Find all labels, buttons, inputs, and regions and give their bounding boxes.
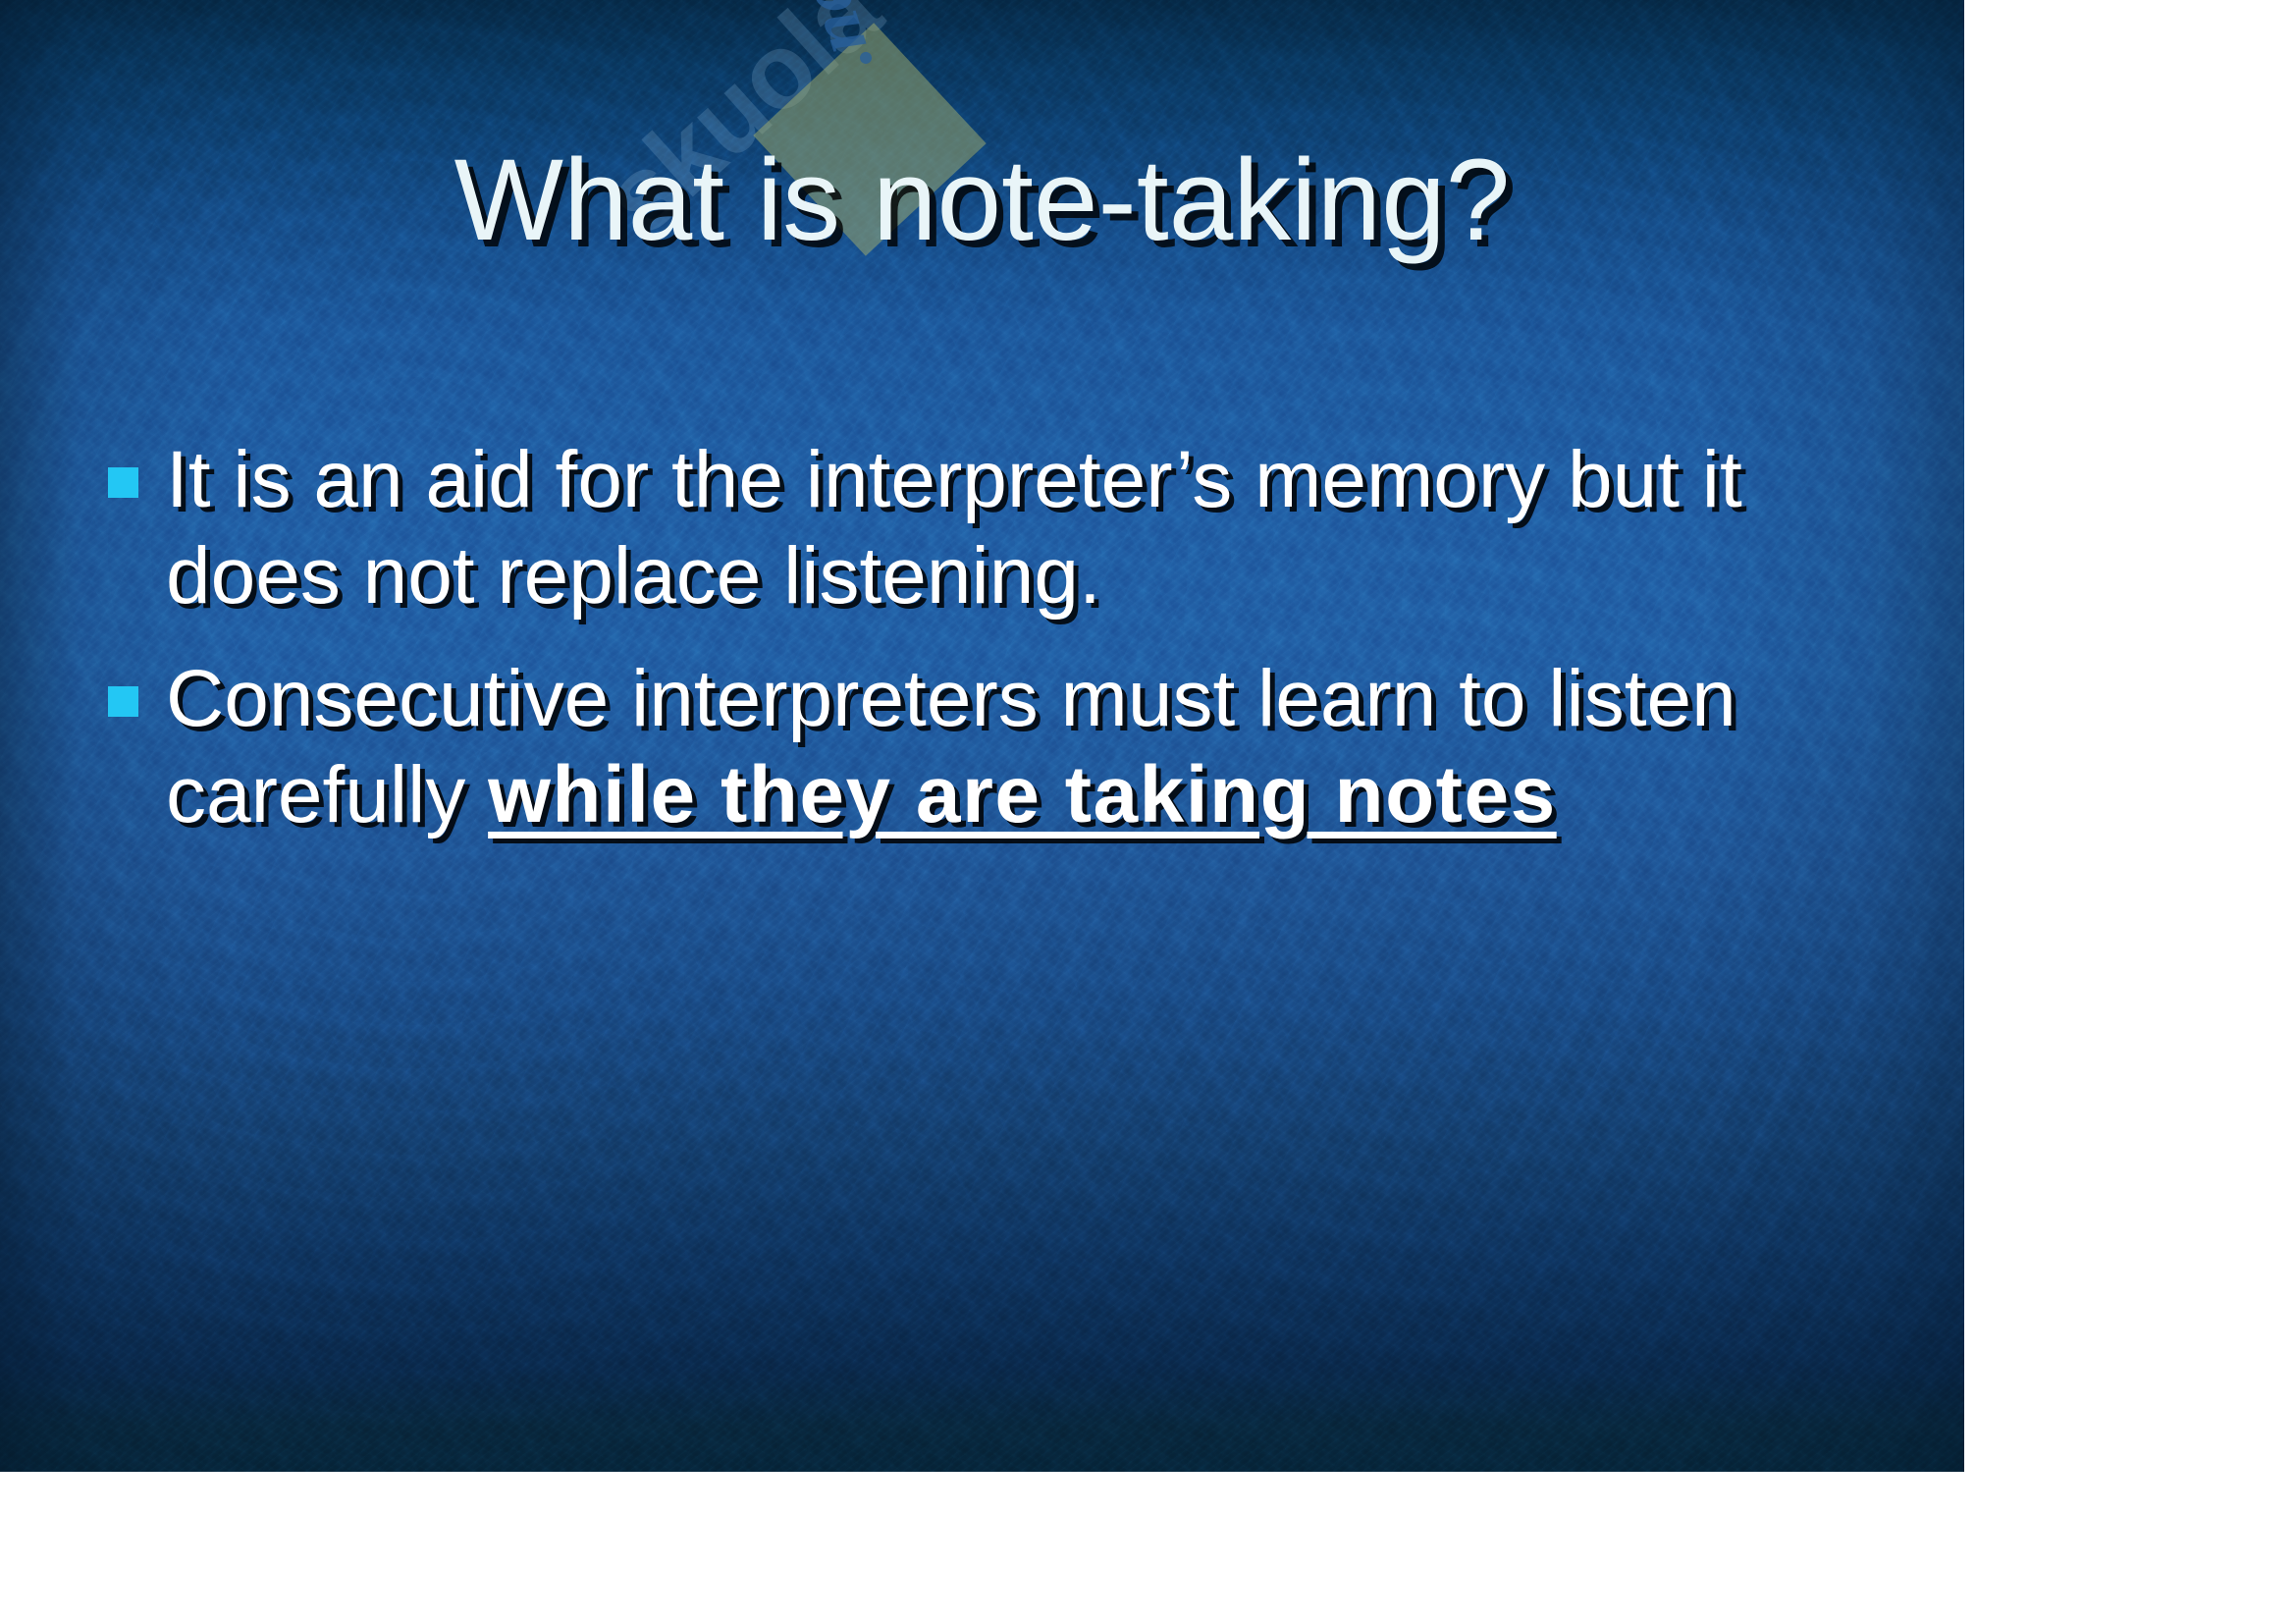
- list-item: It is an aid for the interpreter’s memor…: [108, 432, 1777, 625]
- square-bullet-icon: [108, 686, 138, 717]
- presentation-slide: skuola .net What is note-taking? It is a…: [0, 0, 1964, 1472]
- page-root: skuola .net What is note-taking? It is a…: [0, 0, 2296, 1623]
- bullet-text: It is an aid for the interpreter’s memor…: [166, 432, 1777, 625]
- square-bullet-icon: [108, 467, 138, 498]
- bullet-text: Consecutive interpreters must learn to l…: [166, 651, 1777, 844]
- slide-title: What is note-taking?: [0, 139, 1964, 262]
- bullet-text-emphasis: while they are taking notes: [488, 750, 1557, 839]
- bullet-text-normal: It is an aid for the interpreter’s memor…: [166, 435, 1742, 621]
- slide-body: It is an aid for the interpreter’s memor…: [108, 432, 1777, 870]
- list-item: Consecutive interpreters must learn to l…: [108, 651, 1777, 844]
